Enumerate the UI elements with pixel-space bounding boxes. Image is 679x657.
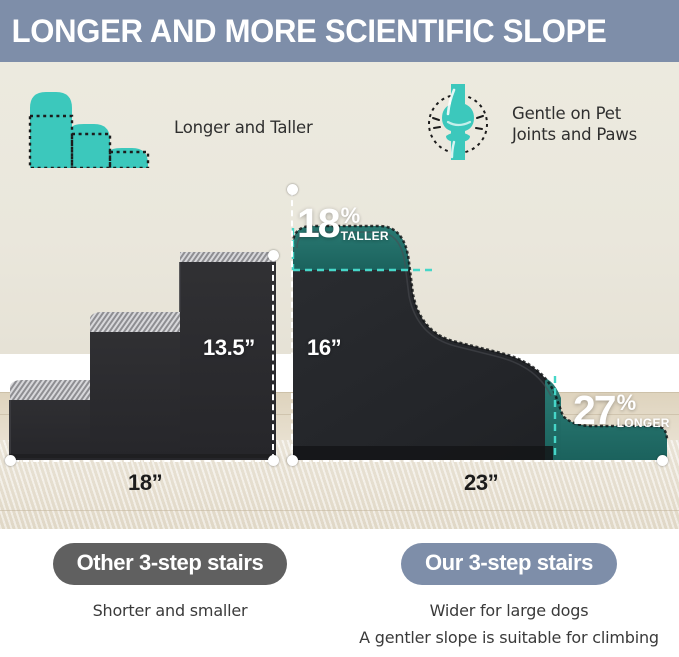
caption-our-1: Wider for large dogs: [339, 599, 679, 624]
dimension-line-left-width: [13, 460, 271, 462]
dimension-line-left-height: [272, 255, 274, 460]
dimension-dot: [657, 455, 668, 466]
staircase-icon: [20, 84, 160, 173]
feature-label: Longer and Taller: [174, 118, 313, 139]
pill-our-stairs: Our 3-step stairs: [401, 543, 617, 585]
dimension-label-left-width: 18”: [128, 470, 162, 496]
feature-longer-taller: Longer and Taller: [20, 84, 313, 173]
badge-taller: 18 % TALLER: [297, 205, 389, 243]
feature-gentle-joints: Gentle on Pet Joints and Paws: [418, 82, 637, 167]
pet-joint-icon: [418, 82, 498, 167]
dimension-line-right-width: [303, 460, 661, 462]
badge-longer: 27 % LONGER: [573, 392, 670, 430]
dimension-label-left-height: 13.5”: [203, 335, 255, 361]
dimension-label-right-height: 16”: [307, 335, 341, 361]
feature-label-line1: Gentle on Pet: [512, 104, 621, 123]
feature-row: Longer and Taller: [0, 62, 679, 177]
header-banner: LONGER AND MORE SCIENTIFIC SLOPE: [0, 0, 679, 62]
badge-number: 27: [573, 392, 615, 430]
dimension-dot: [268, 250, 279, 261]
footer-column-other: Other 3-step stairs Shorter and smaller: [0, 529, 340, 624]
badge-number: 18: [297, 205, 339, 243]
dimension-dot: [287, 455, 298, 466]
dimension-dot: [5, 455, 16, 466]
badge-percent: %: [341, 207, 389, 226]
dimension-dot: [287, 184, 298, 195]
product-infographic: LONGER AND MORE SCIENTIFIC SLOPE: [0, 0, 679, 657]
floor-plank-line: [0, 510, 679, 511]
caption-other-1: Shorter and smaller: [0, 599, 340, 624]
pill-other-stairs: Other 3-step stairs: [53, 543, 288, 585]
dimension-label-right-width: 23”: [464, 470, 498, 496]
badge-word: LONGER: [617, 416, 670, 430]
badge-percent: %: [617, 394, 670, 413]
footer-column-our: Our 3-step stairs Wider for large dogs A…: [339, 529, 679, 651]
feature-label-line2: Joints and Paws: [512, 125, 637, 144]
page-title: LONGER AND MORE SCIENTIFIC SLOPE: [0, 13, 606, 50]
product-scene: Longer and Taller: [0, 62, 679, 529]
dimension-line-right-height: [291, 190, 293, 460]
badge-word: TALLER: [341, 229, 389, 243]
caption-our-2: A gentler slope is suitable for climbing: [339, 626, 679, 651]
feature-label: Gentle on Pet Joints and Paws: [512, 104, 637, 145]
footer-comparison: Other 3-step stairs Shorter and smaller …: [0, 529, 679, 657]
